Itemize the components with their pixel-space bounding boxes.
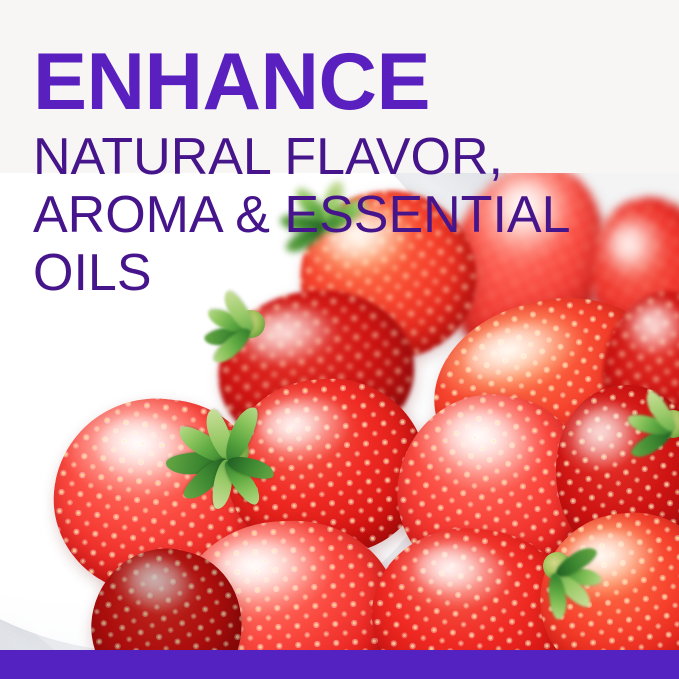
subtitle-line-2: AROMA & ESSENTIAL bbox=[33, 186, 571, 244]
subtitle: NATURAL FLAVOR, AROMA & ESSENTIAL OILS bbox=[33, 128, 571, 302]
subtitle-line-1: NATURAL FLAVOR, bbox=[33, 128, 571, 186]
berry-highlight bbox=[628, 300, 679, 360]
berry-highlight bbox=[94, 412, 199, 489]
berry-highlight bbox=[571, 400, 650, 472]
product-feature-banner: ENHANCE NATURAL FLAVOR, AROMA & ESSENTIA… bbox=[0, 0, 679, 679]
page-title: ENHANCE bbox=[33, 42, 430, 123]
subtitle-line-3: OILS bbox=[33, 244, 571, 302]
berry-highlight bbox=[460, 312, 579, 394]
berry-highlight bbox=[436, 403, 536, 485]
berry-highlight bbox=[257, 395, 353, 461]
berry-highlight bbox=[411, 538, 513, 609]
brand-accent-bar bbox=[0, 650, 679, 679]
berry-highlight bbox=[123, 554, 202, 620]
berry-highlight bbox=[602, 212, 671, 280]
